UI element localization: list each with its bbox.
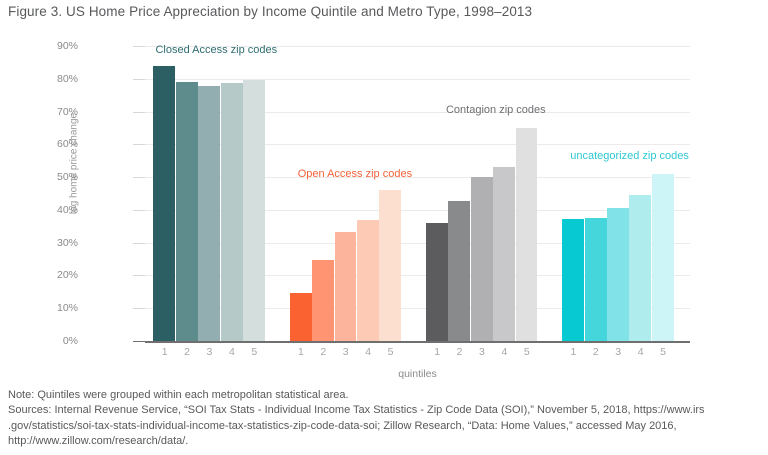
bar[interactable] bbox=[652, 174, 674, 341]
bar[interactable] bbox=[153, 66, 175, 341]
group-label: Closed Access zip codes bbox=[155, 44, 277, 56]
y-axis-tick-label: 90% bbox=[18, 40, 78, 52]
bar[interactable] bbox=[335, 232, 357, 341]
plot-area: 12345123451234512345 bbox=[145, 46, 690, 341]
y-axis-tick-mark bbox=[133, 275, 145, 276]
bar[interactable] bbox=[221, 83, 243, 341]
x-axis-tick-label: 1 bbox=[426, 346, 448, 358]
x-axis-tick-label: 4 bbox=[221, 346, 243, 358]
bar[interactable] bbox=[562, 219, 584, 341]
group-label: Open Access zip codes bbox=[298, 168, 412, 180]
footnote-sources-line-1: Sources: Internal Revenue Service, “SOI … bbox=[8, 403, 764, 418]
bar-group: 12345 bbox=[426, 46, 538, 341]
x-axis-tick-label: 1 bbox=[153, 346, 175, 358]
x-axis-tick-label: 2 bbox=[585, 346, 607, 358]
footnote-sources-line-3: http://www.zillow.com/research/data/. bbox=[8, 434, 764, 449]
bar[interactable] bbox=[243, 80, 265, 341]
footnote-sources-line-2: .gov/statistics/soi-tax-stats-individual… bbox=[8, 419, 764, 434]
y-axis-tick-label: 20% bbox=[18, 269, 78, 281]
x-axis-tick-label: 1 bbox=[290, 346, 312, 358]
bar[interactable] bbox=[585, 218, 607, 341]
x-axis-tick-label: 1 bbox=[562, 346, 584, 358]
y-axis-tick-label: 50% bbox=[18, 171, 78, 183]
bar[interactable] bbox=[198, 86, 220, 341]
y-axis-tick-mark bbox=[133, 112, 145, 113]
bar[interactable] bbox=[290, 293, 312, 341]
bar-chart: log home price change 123451234512345123… bbox=[0, 30, 768, 385]
x-axis-tick-label: 2 bbox=[176, 346, 198, 358]
y-axis-tick-mark bbox=[133, 308, 145, 309]
bar[interactable] bbox=[357, 220, 379, 341]
group-label: uncategorized zip codes bbox=[570, 150, 689, 162]
bar[interactable] bbox=[493, 167, 515, 341]
x-axis-tick-label: 2 bbox=[312, 346, 334, 358]
footnotes: Note: Quintiles were grouped within each… bbox=[8, 388, 764, 450]
x-axis-tick-label: 5 bbox=[243, 346, 265, 358]
bar-group: 12345 bbox=[290, 46, 402, 341]
bar[interactable] bbox=[629, 195, 651, 341]
y-axis-tick-mark bbox=[133, 79, 145, 80]
x-axis-tick-label: 3 bbox=[198, 346, 220, 358]
x-axis-tick-label: 3 bbox=[607, 346, 629, 358]
x-axis-tick-label: 4 bbox=[629, 346, 651, 358]
y-axis-tick-mark bbox=[133, 243, 145, 244]
y-axis-tick-mark bbox=[133, 144, 145, 145]
x-axis-line bbox=[145, 341, 690, 343]
y-axis-tick-label: 80% bbox=[18, 73, 78, 85]
bar-group: 12345 bbox=[153, 46, 265, 341]
y-axis-tick-label: 40% bbox=[18, 204, 78, 216]
bar[interactable] bbox=[448, 201, 470, 341]
bar[interactable] bbox=[379, 190, 401, 341]
bar[interactable] bbox=[516, 128, 538, 341]
x-axis-label: quintiles bbox=[145, 368, 690, 380]
x-axis-tick-label: 5 bbox=[379, 346, 401, 358]
x-axis-tick-label: 5 bbox=[516, 346, 538, 358]
y-axis-tick-label: 0% bbox=[18, 335, 78, 347]
y-axis-tick-mark bbox=[133, 46, 145, 47]
x-axis-tick-label: 3 bbox=[471, 346, 493, 358]
bar[interactable] bbox=[426, 223, 448, 341]
y-axis-tick-mark bbox=[133, 341, 145, 342]
y-axis-tick-label: 70% bbox=[18, 106, 78, 118]
group-label: Contagion zip codes bbox=[446, 104, 546, 116]
bar[interactable] bbox=[176, 82, 198, 341]
y-axis-tick-mark bbox=[133, 210, 145, 211]
x-axis-tick-label: 5 bbox=[652, 346, 674, 358]
x-axis-tick-label: 2 bbox=[448, 346, 470, 358]
footnote-note: Note: Quintiles were grouped within each… bbox=[8, 388, 764, 403]
x-axis-tick-label: 3 bbox=[335, 346, 357, 358]
x-axis-tick-label: 4 bbox=[357, 346, 379, 358]
bar[interactable] bbox=[471, 177, 493, 341]
page-title: Figure 3. US Home Price Appreciation by … bbox=[8, 4, 532, 19]
bar[interactable] bbox=[312, 260, 334, 341]
y-axis-tick-label: 60% bbox=[18, 138, 78, 150]
bar-group: 12345 bbox=[562, 46, 674, 341]
y-axis-tick-mark bbox=[133, 177, 145, 178]
bar[interactable] bbox=[607, 208, 629, 341]
x-axis-tick-label: 4 bbox=[493, 346, 515, 358]
y-axis-tick-label: 10% bbox=[18, 302, 78, 314]
y-axis-tick-label: 30% bbox=[18, 237, 78, 249]
